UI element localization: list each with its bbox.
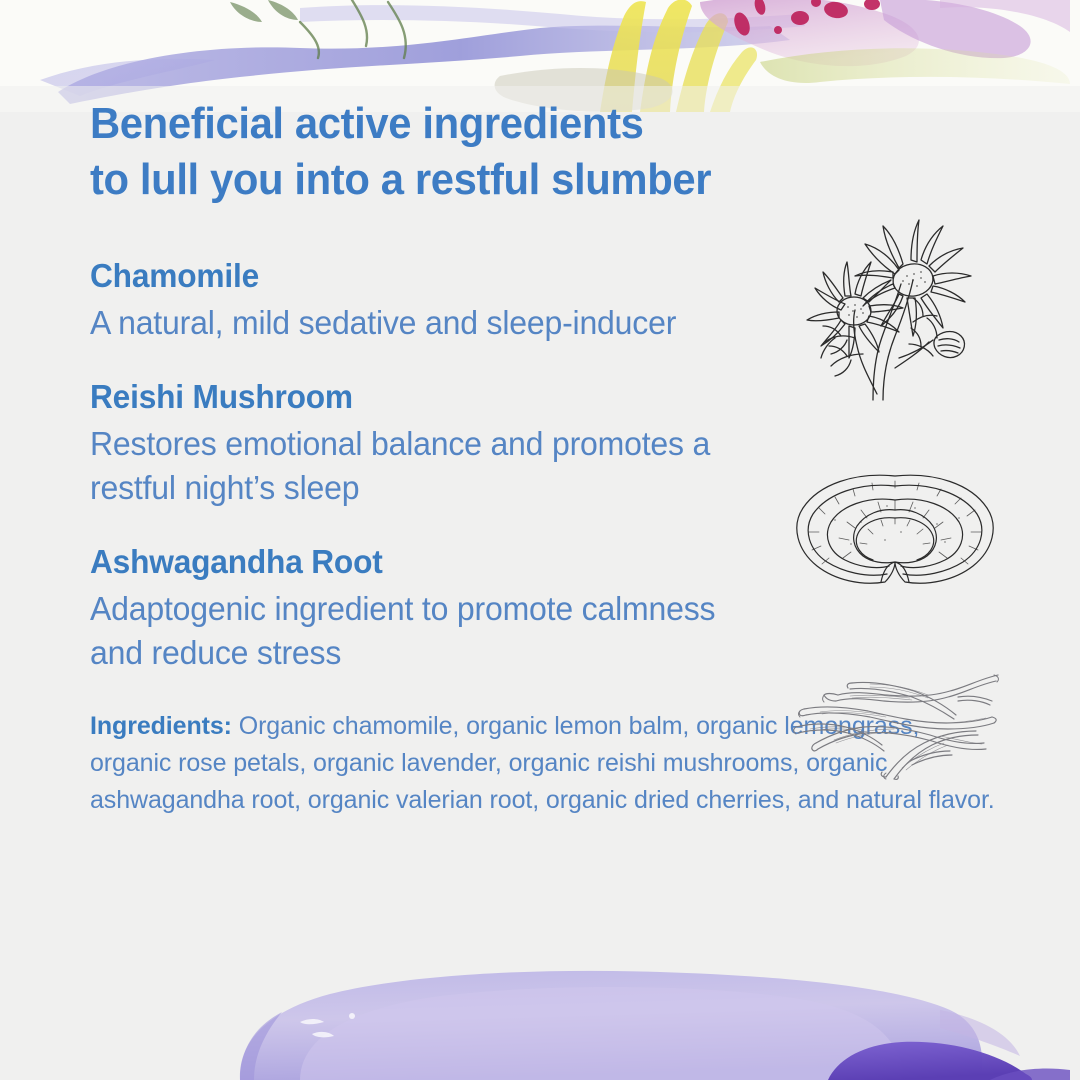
ingredient-description-ashwagandha: Adaptogenic ingredient to promote calmne…	[90, 587, 769, 674]
page-title-line2: to lull you into a restful slumber	[90, 152, 974, 208]
ingredient-description-reishi: Restores emotional balance and promotes …	[90, 422, 769, 509]
infographic-page: Beneficial active ingredients to lull yo…	[0, 0, 1080, 1080]
ingredients-label: Ingredients:	[90, 712, 232, 740]
page-title: Beneficial active ingredients to lull yo…	[90, 96, 974, 209]
reishi-mushroom-icon	[795, 470, 1000, 595]
page-title-line1: Beneficial active ingredients	[90, 99, 643, 148]
chamomile-flower-icon	[795, 218, 995, 403]
ashwagandha-root-icon	[790, 665, 1005, 780]
ingredient-description-chamomile: A natural, mild sedative and sleep-induc…	[90, 301, 769, 345]
bottom-watercolor-decoration	[0, 970, 1080, 1080]
